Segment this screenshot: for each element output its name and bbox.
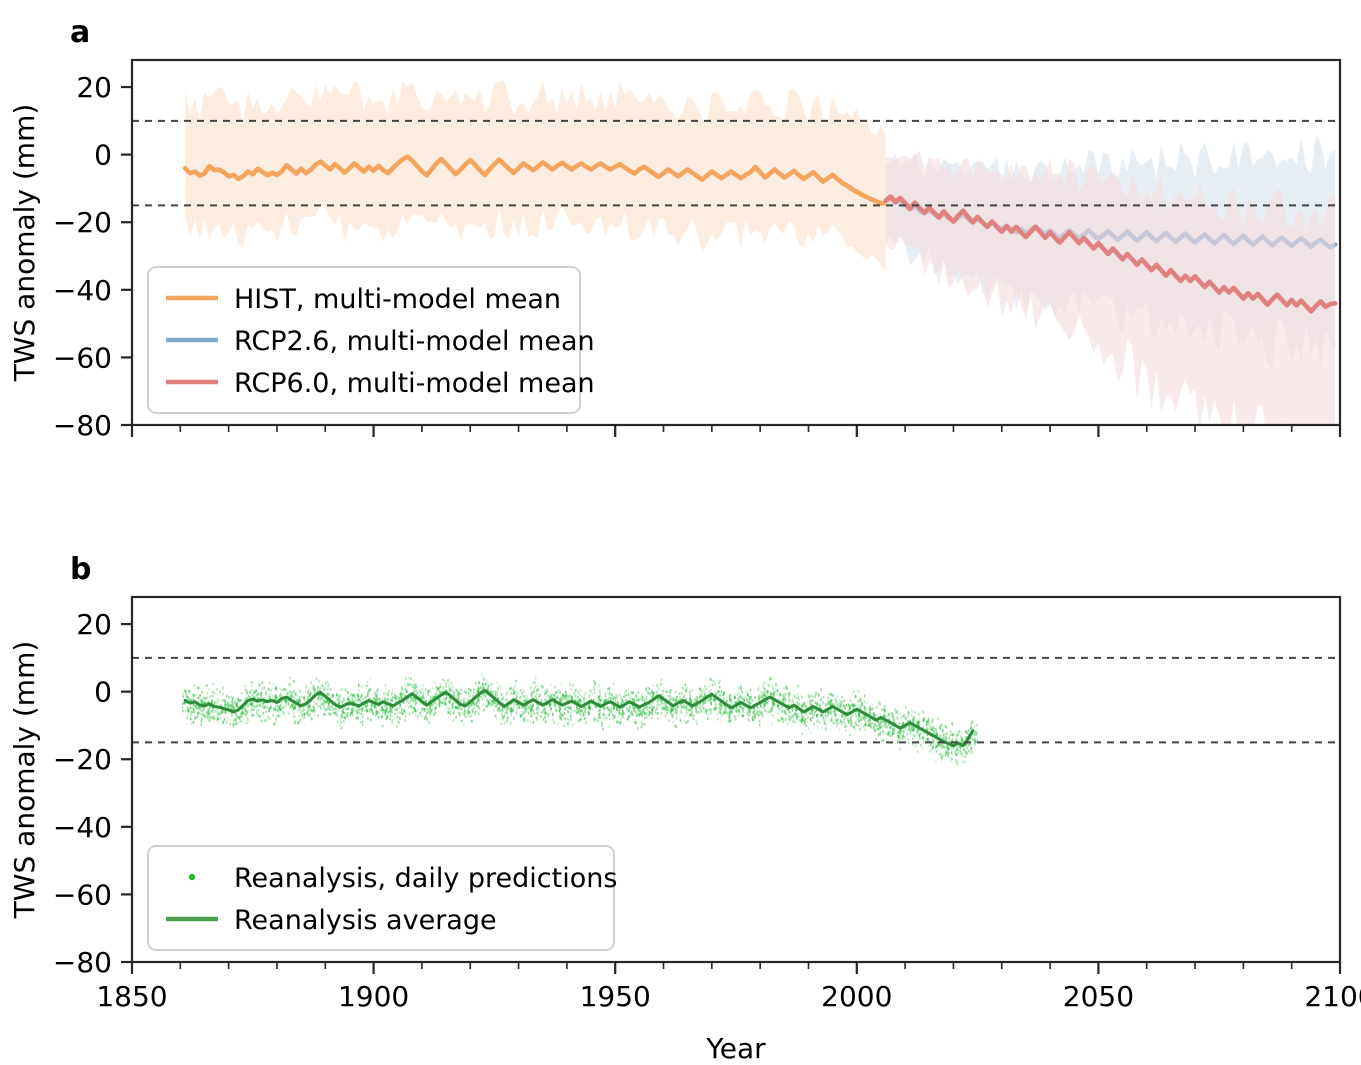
y-axis-title-b: TWS anomaly (mm) xyxy=(8,641,41,920)
figure-root: a200−20−40−60−80TWS anomaly (mm)HIST, mu… xyxy=(0,0,1361,1065)
x-tick-label-b-1: 1900 xyxy=(338,980,409,1013)
legend-b[interactable]: Reanalysis, daily predictionsReanalysis … xyxy=(148,846,617,950)
legend-label-3: RCP6.0, multi-model mean xyxy=(234,368,595,399)
x-axis-title-b: Year xyxy=(705,1032,766,1065)
y-tick-label-a-0: 20 xyxy=(76,71,112,104)
panel-label-a: a xyxy=(70,15,90,50)
legend-label-1: HIST, multi-model mean xyxy=(234,284,561,315)
y-tick-label-b-1: 0 xyxy=(94,676,112,709)
y-tick-label-b-0: 20 xyxy=(76,608,112,641)
y-tick-label-b-5: −80 xyxy=(53,946,112,979)
legend-label-2: RCP2.6, multi-model mean xyxy=(234,326,595,357)
legend-label-1: Reanalysis, daily predictions xyxy=(234,863,617,894)
y-tick-label-a-3: −40 xyxy=(53,274,112,307)
legend-a[interactable]: HIST, multi-model meanRCP2.6, multi-mode… xyxy=(148,267,595,413)
legend-entry-1[interactable]: Reanalysis, daily predictions xyxy=(189,863,618,894)
y-axis-title-a: TWS anomaly (mm) xyxy=(8,104,41,383)
y-tick-label-b-2: −20 xyxy=(53,743,112,776)
legend-marker-dot xyxy=(189,874,195,880)
y-tick-label-a-4: −60 xyxy=(53,341,112,374)
x-tick-label-b-5: 2100 xyxy=(1304,980,1361,1013)
y-tick-label-a-1: 0 xyxy=(94,139,112,172)
x-tick-label-b-3: 2000 xyxy=(821,980,892,1013)
y-tick-label-b-3: −40 xyxy=(53,811,112,844)
panel-label-b: b xyxy=(70,552,91,587)
y-tick-label-a-5: −80 xyxy=(53,409,112,442)
y-tick-label-a-2: −20 xyxy=(53,206,112,239)
y-tick-label-b-4: −60 xyxy=(53,878,112,911)
legend-label-2: Reanalysis average xyxy=(234,905,497,936)
tws-anomaly-figure: a200−20−40−60−80TWS anomaly (mm)HIST, mu… xyxy=(0,0,1361,1065)
x-tick-label-b-4: 2050 xyxy=(1063,980,1134,1013)
x-tick-label-b-0: 1850 xyxy=(96,980,167,1013)
x-tick-label-b-2: 1950 xyxy=(580,980,651,1013)
